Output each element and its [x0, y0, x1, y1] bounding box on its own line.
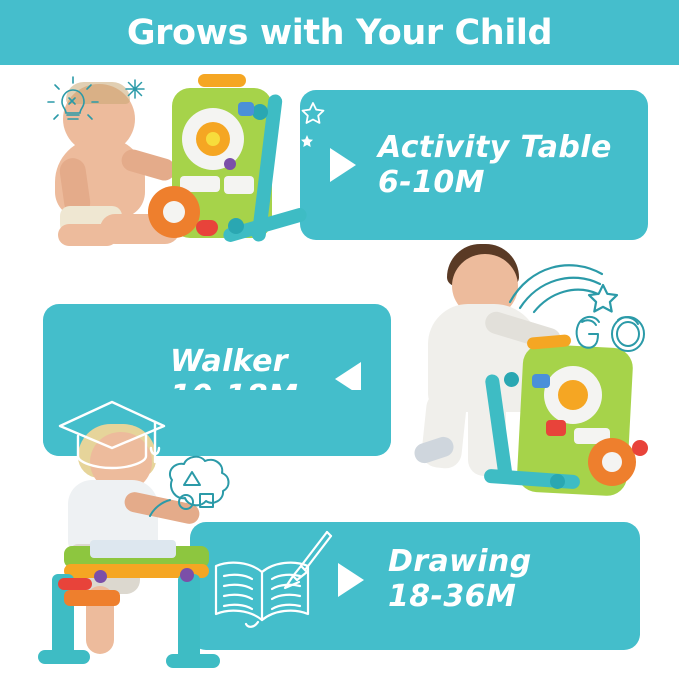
star-outline-doodle — [300, 100, 326, 126]
stage-label-walker: Walker — [170, 344, 288, 379]
label-activity-table: Activity Table 6-10M — [378, 130, 612, 201]
toy-spin-core — [206, 132, 220, 146]
walker-button-red — [546, 420, 566, 436]
table-foot-left — [38, 650, 90, 664]
walker-wheel-hub — [602, 452, 622, 472]
toy-button-blue — [238, 102, 254, 116]
walker-knob — [632, 440, 648, 456]
page-header: Grows with Your Child — [0, 0, 679, 65]
label-drawing: Drawing 18-36M — [388, 544, 532, 615]
arrow-drawing — [338, 563, 364, 597]
lightbulb-doodle — [45, 72, 99, 128]
baby-leg-right — [58, 224, 118, 246]
table-stool — [64, 590, 120, 606]
walker-joint-top — [504, 372, 519, 387]
walker-spin-inner — [558, 380, 588, 410]
toy-joint-top — [252, 104, 268, 120]
table-foot-right — [166, 654, 220, 668]
infographic-page: Grows with Your Child — [0, 0, 679, 679]
paintbrush-doodle — [275, 528, 335, 596]
toy-wheel-hub — [163, 201, 185, 223]
page-title: Grows with Your Child — [127, 13, 552, 53]
age-label-drawing: 18-36M — [388, 579, 532, 614]
table-accessory — [58, 578, 92, 590]
toy-handle — [198, 74, 246, 87]
walker-joint-bottom — [550, 474, 565, 489]
stage-label-activity-table: Activity Table — [378, 130, 612, 165]
table-drawing-board — [90, 540, 176, 558]
sparkle-doodle — [124, 78, 146, 100]
age-label-activity-table: 6-10M — [378, 165, 612, 200]
toy-bead — [224, 158, 236, 170]
thought-bubble-shapes-doodle — [142, 450, 238, 528]
toy-piano-keys — [224, 176, 254, 194]
go-text-doodle — [571, 310, 653, 356]
star-solid-doodle — [300, 135, 314, 149]
table-knob-2 — [94, 570, 107, 583]
toy-joint-bottom — [228, 218, 244, 234]
toy-lever — [196, 220, 218, 236]
table-leg-right — [178, 574, 200, 666]
stage-label-drawing: Drawing — [388, 544, 532, 579]
arrow-activity-table — [330, 148, 356, 182]
table-knob — [180, 568, 194, 582]
walker-button-blue — [532, 374, 550, 388]
